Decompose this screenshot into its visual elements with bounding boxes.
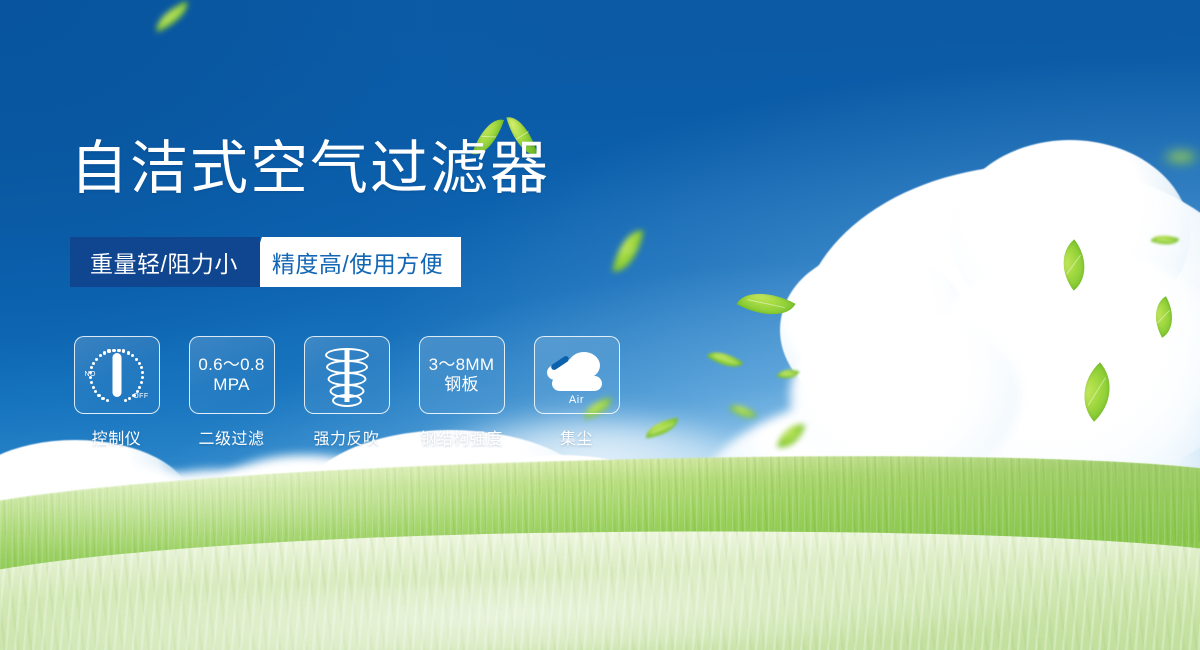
air-cloud-icon: Air	[546, 350, 608, 400]
feature-label: 钢结构强度	[420, 425, 503, 449]
gauge-tick-dot	[124, 399, 127, 402]
cloud-base	[552, 376, 602, 391]
pressure-text-icon: 0.6～0.8 MPA	[198, 355, 264, 395]
gauge-tick-dot	[138, 362, 141, 365]
feature-label: 控制仪	[92, 425, 142, 449]
feature-item-blowback[interactable]: 强力反吹	[300, 336, 393, 449]
gauge-tick-dot	[138, 386, 141, 389]
page-title: 自洁式空气过滤器	[70, 140, 550, 198]
gauge-needle	[112, 353, 121, 397]
gauge-tick-dot	[128, 397, 131, 400]
steel-text-icon: 3～8MM 钢板	[429, 355, 495, 395]
product-banner: 自洁式空气过滤器 重量轻/阻力小 精度高/使用方便 NO OFF 控制仪 0.6…	[0, 0, 1200, 650]
gauge-tick-dot	[127, 351, 130, 354]
feature-item-steel[interactable]: 3～8MM 钢板 钢结构强度	[415, 336, 508, 449]
feature-item-controller[interactable]: NO OFF 控制仪	[70, 336, 163, 449]
gauge-tick-dot	[131, 354, 134, 357]
gauge-tick-dot	[117, 349, 120, 352]
gauge-tick-dot	[101, 397, 104, 400]
gauge-tick-dot	[141, 371, 144, 374]
gauge-tick-dot	[140, 381, 143, 384]
gauge-tick-dot	[103, 351, 106, 354]
gauge-tick-dot	[97, 394, 100, 397]
coil-icon	[323, 346, 371, 404]
feature-label: 强力反吹	[313, 425, 379, 449]
gauge-tick-dot	[141, 376, 144, 379]
gauge-tick-dot	[92, 386, 95, 389]
feature-list: NO OFF 控制仪 0.6～0.8 MPA 二级过滤	[70, 336, 623, 449]
gauge-tick-dot	[135, 358, 138, 361]
gauge-tick-dot	[136, 390, 139, 393]
gauge-tick-dot	[132, 394, 135, 397]
feature-label: 二级过滤	[198, 425, 264, 449]
feature-label: 集尘	[560, 425, 593, 449]
feature-box: 0.6～0.8 MPA	[189, 336, 275, 414]
gauge-tick-dot	[90, 381, 93, 384]
gauge-off-label: OFF	[133, 393, 148, 400]
feature-box: 3～8MM 钢板	[419, 336, 505, 414]
feature-box	[304, 336, 390, 414]
gauge-tick-dot	[112, 349, 115, 352]
gauge-tick-dot	[89, 376, 92, 379]
coil-ring	[332, 394, 362, 407]
grass-field	[0, 422, 1200, 650]
subtitle-left: 重量轻/阻力小	[70, 237, 260, 287]
gauge-tick-dot	[94, 390, 97, 393]
gauge-icon: NO OFF	[84, 344, 150, 406]
feature-item-dust[interactable]: Air 集尘	[530, 336, 623, 449]
gauge-tick-dot	[99, 354, 102, 357]
feature-box: NO OFF	[74, 336, 160, 414]
feature-box: Air	[534, 336, 620, 414]
feature-item-pressure[interactable]: 0.6～0.8 MPA 二级过滤	[185, 336, 278, 449]
gauge-tick-dot	[107, 349, 110, 352]
gauge-tick-dot	[95, 358, 98, 361]
gauge-tick-dot	[92, 362, 95, 365]
subtitle-bar: 重量轻/阻力小 精度高/使用方便	[70, 237, 461, 287]
gauge-tick-dot	[90, 366, 93, 369]
air-label: Air	[546, 394, 608, 406]
gauge-tick-dot	[106, 399, 109, 402]
subtitle-right: 精度高/使用方便	[246, 237, 461, 287]
gauge-tick-dot	[140, 366, 143, 369]
gauge-tick-dot	[122, 349, 125, 352]
